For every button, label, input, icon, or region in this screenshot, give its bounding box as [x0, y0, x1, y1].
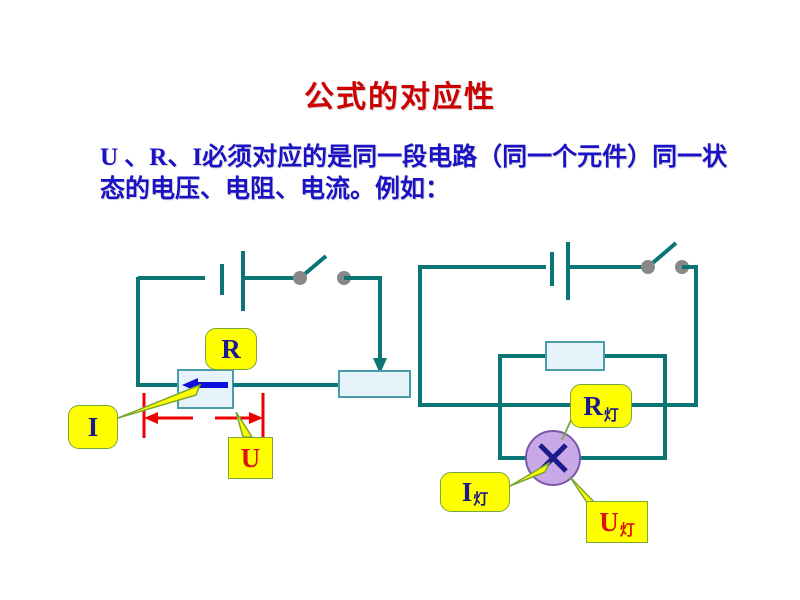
load-box — [339, 371, 410, 397]
leader-U-lamp — [570, 477, 596, 504]
label-voltage-U: U — [228, 437, 273, 479]
slide-canvas: 公式的对应性 U 、R、I必须对应的是同一段电路（同一个元件）同一状态的电压、电… — [0, 0, 800, 600]
label-text-main: I — [88, 414, 99, 441]
label-text-main: I — [462, 479, 473, 506]
label-text-sub: 灯 — [620, 524, 635, 542]
label-resistance-R: R — [205, 328, 257, 370]
circuit-diagrams — [0, 0, 800, 600]
wire-right-vertical-r — [682, 267, 696, 405]
label-lamp-resistance: R 灯 — [570, 384, 632, 428]
label-text-main: U — [241, 445, 261, 472]
wire-switch-to-load — [344, 278, 380, 362]
resistor-box-r — [546, 342, 604, 370]
label-text-sub: 灯 — [473, 493, 488, 511]
left-circuit — [118, 251, 410, 438]
label-text-main: R — [221, 336, 241, 363]
dimension-arrow-right-head — [249, 412, 263, 424]
label-current-I: I — [68, 405, 118, 449]
rheostat-body — [178, 370, 233, 408]
label-text-sub: 灯 — [604, 409, 619, 427]
label-lamp-voltage: U 灯 — [586, 501, 648, 543]
label-text-main: R — [583, 393, 603, 420]
dimension-arrow-left-head — [144, 412, 158, 424]
right-circuit — [418, 242, 698, 504]
switch-dot-left-r — [641, 260, 655, 274]
switch-dot-left — [293, 271, 307, 285]
label-lamp-current: I 灯 — [440, 472, 510, 512]
label-text-main: U — [599, 509, 619, 536]
